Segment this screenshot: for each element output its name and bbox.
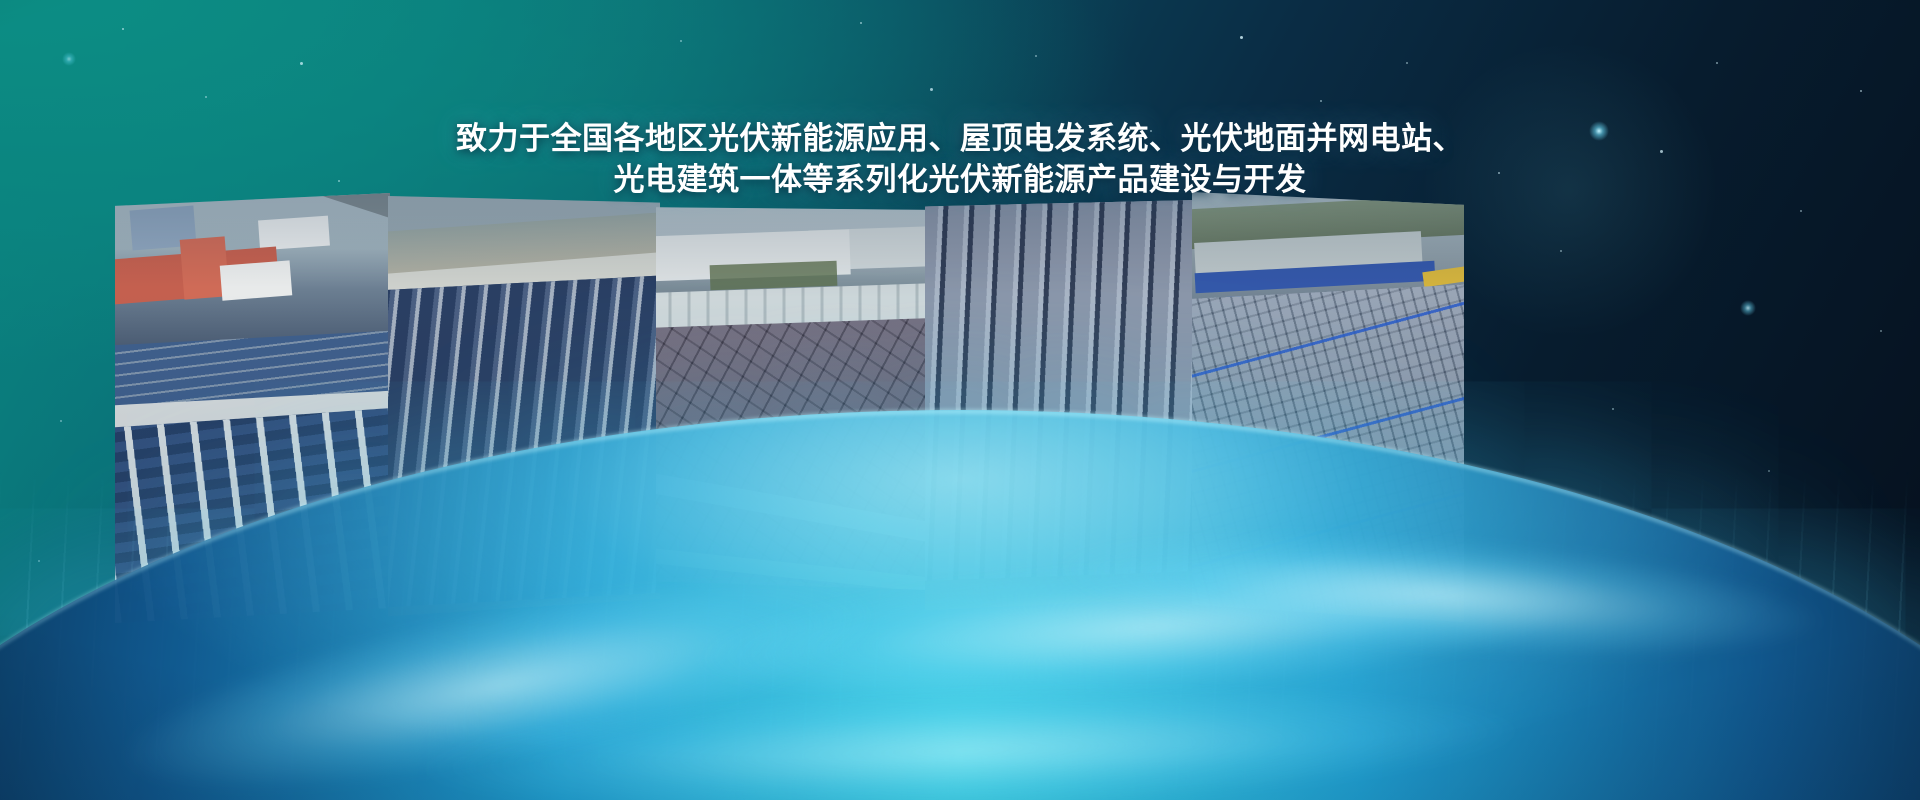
photo-tint-overlay	[115, 193, 390, 623]
photo-tint-overlay	[1192, 192, 1464, 622]
headline-line-1: 致力于全国各地区光伏新能源应用、屋顶电发系统、光伏地面并网电站、	[0, 118, 1920, 159]
gallery-photo-4[interactable]	[925, 200, 1197, 632]
photo-tint-overlay	[656, 203, 930, 633]
gallery-photo-3[interactable]	[656, 203, 930, 633]
solar-promo-banner: 致力于全国各地区光伏新能源应用、屋顶电发系统、光伏地面并网电站、 光电建筑一体等…	[0, 0, 1920, 800]
banner-headline: 致力于全国各地区光伏新能源应用、屋顶电发系统、光伏地面并网电站、 光电建筑一体等…	[0, 118, 1920, 200]
gallery-photo-1[interactable]	[115, 193, 390, 623]
gallery-photo-5[interactable]	[1192, 192, 1464, 622]
headline-line-2: 光电建筑一体等系列化光伏新能源产品建设与开发	[0, 159, 1920, 200]
gallery-photo-2[interactable]	[388, 196, 660, 636]
photo-tint-overlay	[388, 196, 660, 636]
photo-tint-overlay	[925, 200, 1197, 632]
